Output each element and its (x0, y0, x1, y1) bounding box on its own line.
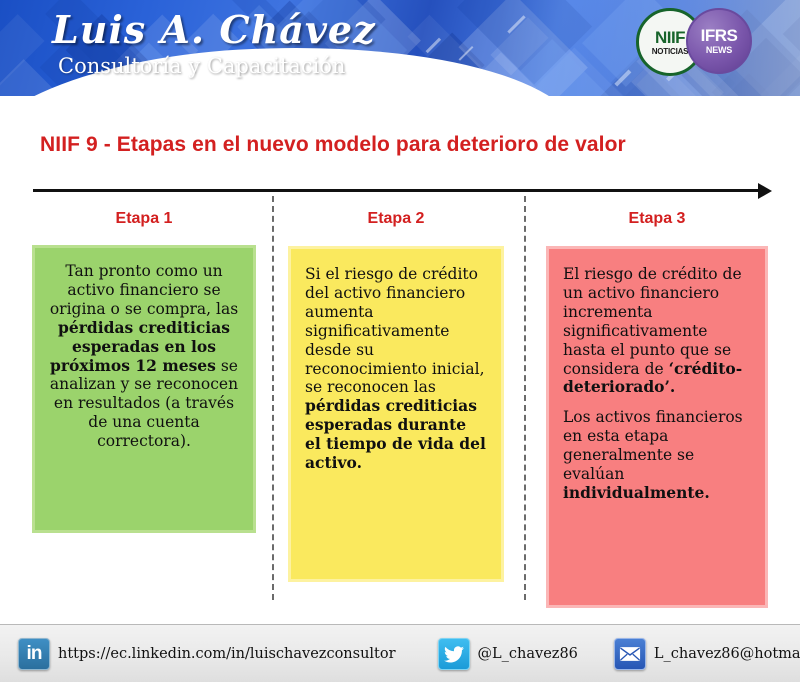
body-text: Los activos financieros en esta etapa ge… (563, 408, 743, 483)
stage-1-paragraph-1: Tan pronto como un activo financiero se … (47, 262, 241, 451)
twitter-handle[interactable]: @L_chavez86 (478, 646, 578, 662)
brand-name: Luis A. Chávez (52, 10, 376, 50)
twitter-icon[interactable] (438, 638, 470, 670)
page-title: NIIF 9 - Etapas en el nuevo modelo para … (40, 133, 760, 157)
slide-root: Luis A. Chávez Consultoría y Capacitació… (0, 0, 800, 682)
email-address[interactable]: L_chavez86@hotmail.com (654, 646, 800, 662)
logo-group: NIIF NOTICIAS IFRS NEWS (636, 8, 786, 70)
emphasis-text: pérdidas crediticias esperadas durante e… (305, 396, 486, 472)
niif-logo-secondary: NOTICIAS (652, 48, 689, 56)
linkedin-url[interactable]: https://ec.linkedin.com/in/luischavezcon… (58, 646, 396, 662)
stage-label-1: Etapa 1 (32, 210, 256, 228)
contact-email[interactable]: L_chavez86@hotmail.com (614, 638, 800, 670)
stage-divider-2 (524, 196, 526, 600)
timeline-axis (33, 189, 761, 192)
body-text: Si el riesgo de crédito del activo finan… (305, 265, 485, 396)
email-icon[interactable] (614, 638, 646, 670)
footer-contact-bar: in https://ec.linkedin.com/in/luischavez… (0, 624, 800, 682)
body-text: Tan pronto como un activo financiero se … (50, 262, 238, 318)
stage-box-1: Tan pronto como un activo financiero se … (32, 245, 256, 533)
niif-logo-primary: NIIF (655, 29, 685, 46)
brand-block: Luis A. Chávez Consultoría y Capacitació… (52, 10, 376, 78)
stage-3-paragraph-2: Los activos financieros en esta etapa ge… (563, 408, 751, 503)
linkedin-icon[interactable]: in (18, 638, 50, 670)
contact-twitter[interactable]: @L_chavez86 (438, 638, 578, 670)
contact-linkedin[interactable]: in https://ec.linkedin.com/in/luischavez… (18, 638, 396, 670)
header-bottom-band (0, 96, 800, 110)
brand-subtitle: Consultoría y Capacitación (58, 54, 376, 78)
stage-box-2: Si el riesgo de crédito del activo finan… (288, 246, 504, 582)
stage-3-paragraph-1: El riesgo de crédito de un activo financ… (563, 265, 751, 397)
header-banner: Luis A. Chávez Consultoría y Capacitació… (0, 0, 800, 110)
stage-2-paragraph-1: Si el riesgo de crédito del activo finan… (305, 265, 487, 473)
stage-divider-1 (272, 196, 274, 600)
ifrs-logo-secondary: NEWS (706, 46, 732, 55)
timeline-arrowhead-icon (758, 183, 772, 199)
stage-box-3: El riesgo de crédito de un activo financ… (546, 246, 768, 608)
ifrs-news-logo: IFRS NEWS (686, 8, 752, 74)
stage-label-2: Etapa 2 (288, 210, 504, 228)
ifrs-logo-primary: IFRS (701, 27, 738, 44)
emphasis-text: individualmente. (563, 483, 710, 502)
stage-label-3: Etapa 3 (546, 210, 768, 228)
emphasis-text: pérdidas crediticias esperadas en los pr… (50, 318, 230, 375)
